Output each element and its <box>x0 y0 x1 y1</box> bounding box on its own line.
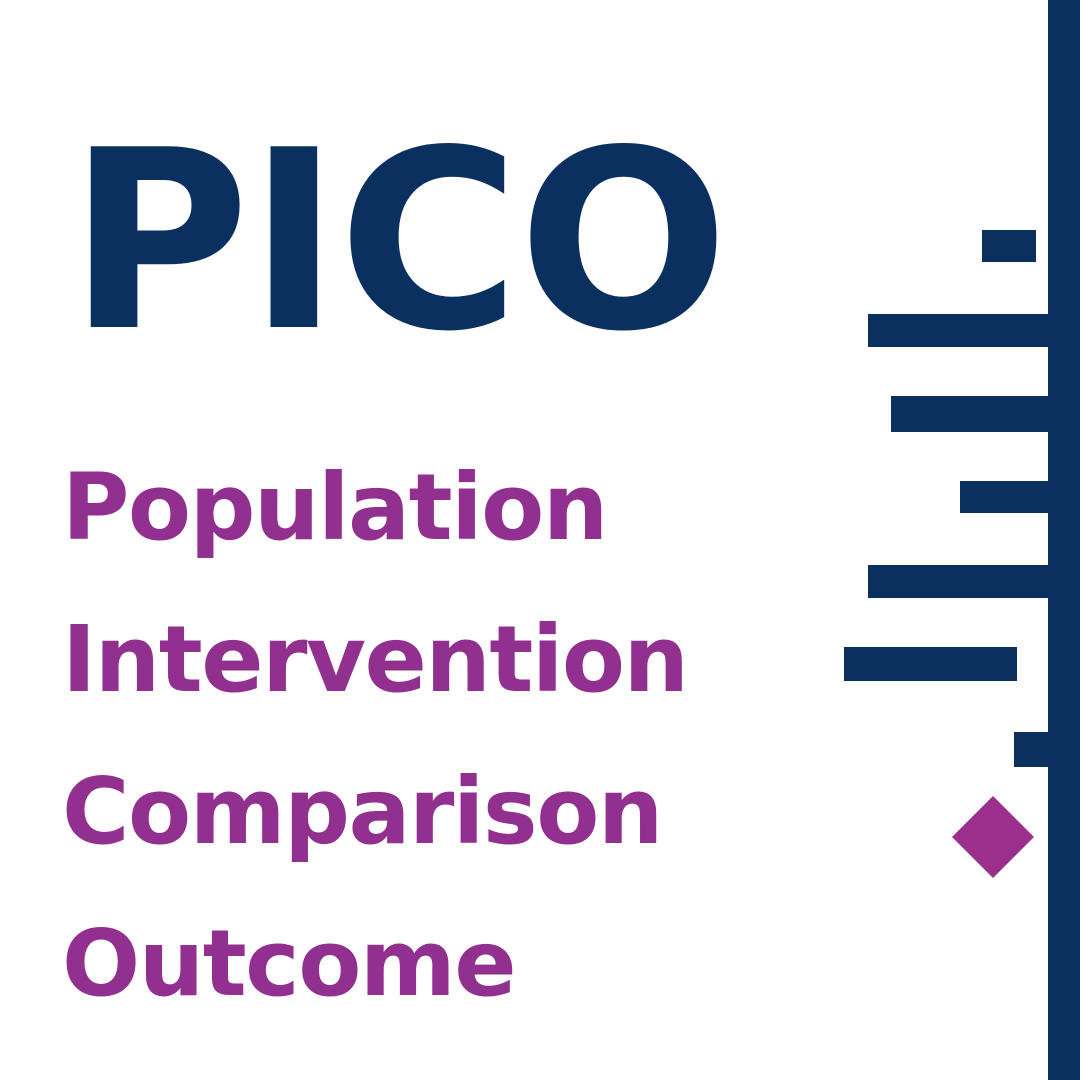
confidence-interval-bar-7 <box>1014 732 1048 767</box>
forest-plot <box>820 0 1080 1080</box>
pico-graphic: PICO Population Intervention Comparison … <box>0 0 1080 1080</box>
pooled-effect-diamond <box>952 796 1034 878</box>
confidence-interval-bar-5 <box>868 565 1048 598</box>
confidence-interval-bar-4 <box>960 481 1048 513</box>
line-of-no-effect <box>1048 0 1080 1080</box>
list-item-comparison: Comparison <box>62 736 802 888</box>
list-item-population: Population <box>62 432 802 584</box>
list-item-intervention: Intervention <box>62 584 802 736</box>
confidence-interval-bar-1 <box>982 230 1036 262</box>
page-title: PICO <box>68 118 727 366</box>
confidence-interval-bar-3 <box>891 396 1048 432</box>
confidence-interval-bar-2 <box>868 314 1048 347</box>
confidence-interval-bar-6 <box>844 647 1017 681</box>
list-item-outcome: Outcome <box>62 888 802 1040</box>
text-panel: PICO Population Intervention Comparison … <box>0 0 820 1080</box>
pico-expansion-list: Population Intervention Comparison Outco… <box>62 432 802 1040</box>
